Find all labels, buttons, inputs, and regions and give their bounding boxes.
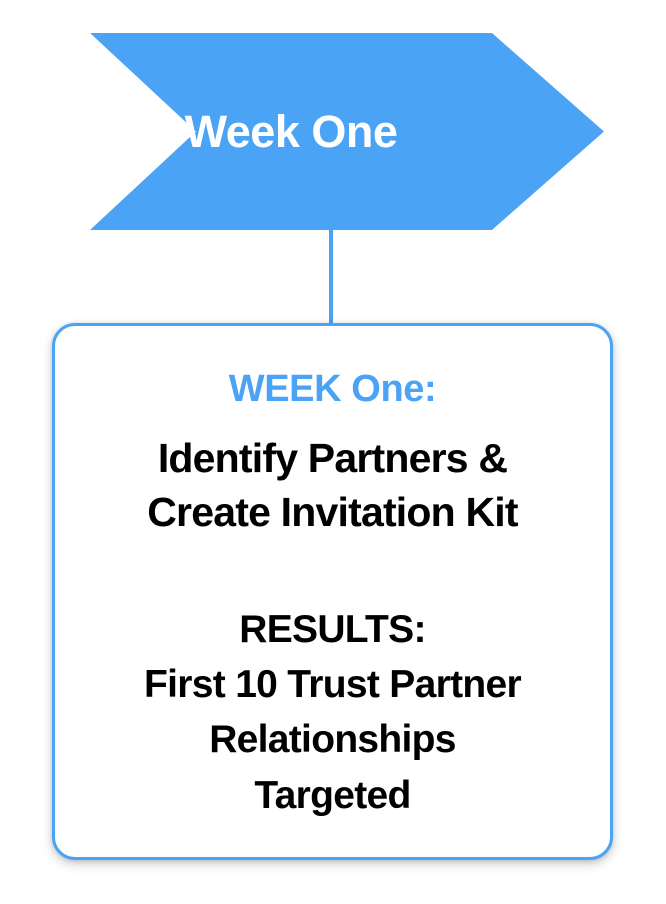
card-eyebrow-label: WEEK One: — [229, 368, 437, 411]
connector-line — [329, 228, 333, 325]
card-results-block: RESULTS: First 10 Trust Partner Relation… — [144, 602, 521, 824]
phase-detail-card[interactable]: WEEK One: Identify Partners & Create Inv… — [52, 323, 613, 860]
phase-banner[interactable]: Week One — [90, 33, 604, 230]
card-results-heading: RESULTS: — [144, 602, 521, 657]
card-headline-line: Create Invitation Kit — [147, 485, 517, 540]
card-results-line: Relationships — [144, 712, 521, 767]
diagram-stage: Week One WEEK One: Identify Partners & C… — [0, 0, 666, 904]
card-results-line: First 10 Trust Partner — [144, 657, 521, 712]
card-results-line: Targeted — [144, 768, 521, 823]
phase-banner-label: Week One — [90, 33, 492, 230]
card-headline: Identify Partners & Create Invitation Ki… — [147, 431, 517, 540]
card-headline-line: Identify Partners & — [147, 431, 517, 486]
